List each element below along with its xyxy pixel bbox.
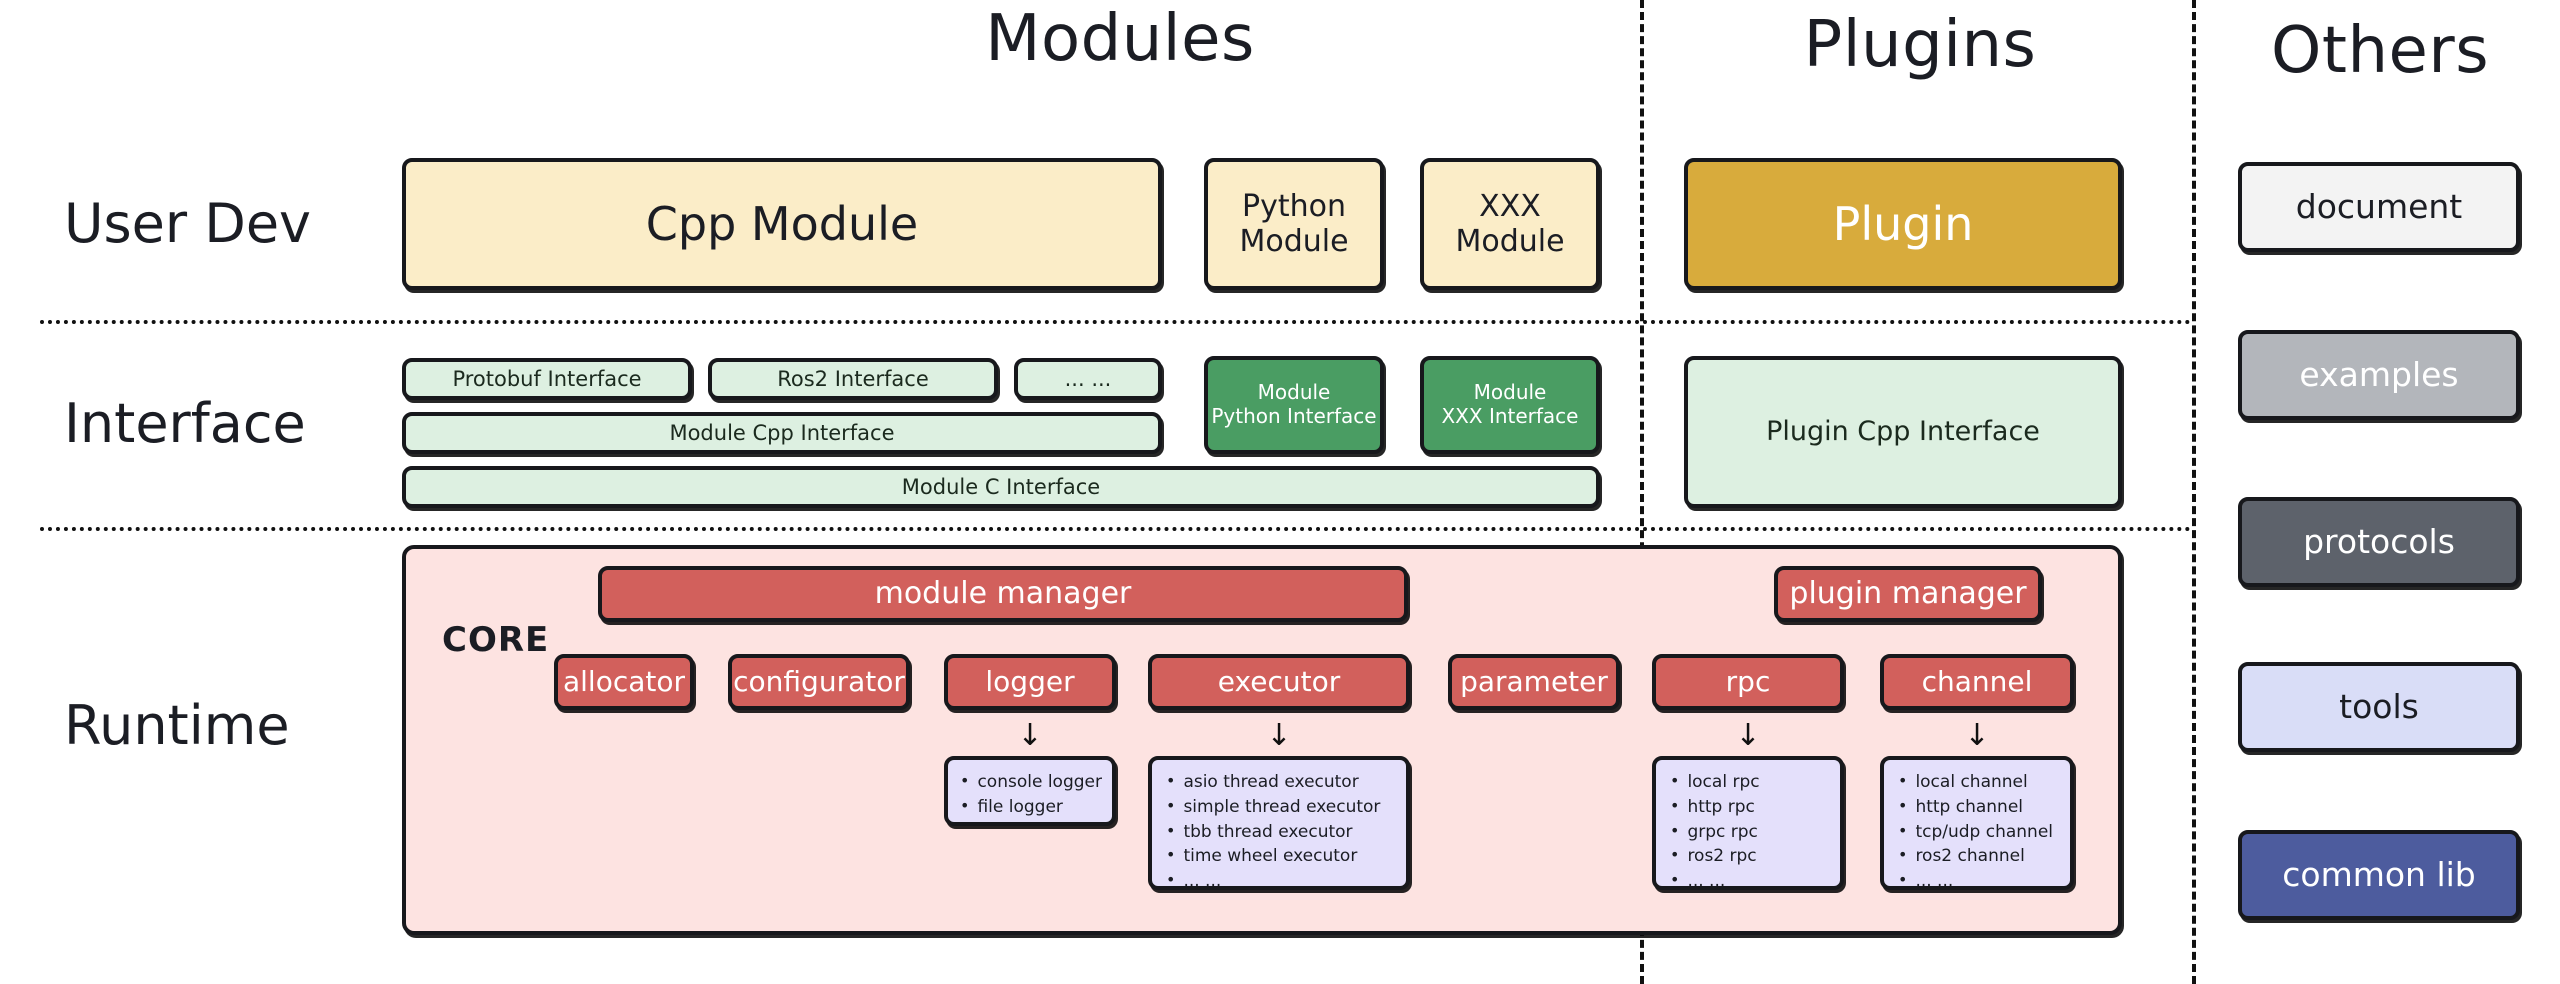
node-ros2-interface[interactable]: Ros2 Interface	[708, 358, 998, 400]
column-header-plugins-label: Plugins	[1804, 8, 2037, 82]
bullet-icon: •	[960, 770, 969, 792]
node-xxx-module-label: XXX Module	[1455, 189, 1564, 260]
bullet-icon: •	[1670, 795, 1679, 817]
detail-item-label: ... ...	[1915, 869, 1953, 894]
detail-list-channel: •local channel•http channel•tcp/udp chan…	[1884, 760, 2070, 902]
node-tools-label: tools	[2339, 688, 2419, 727]
bullet-icon: •	[1166, 770, 1175, 792]
detail-item: •simple thread executor	[1166, 795, 1394, 820]
node-executor-label: executor	[1218, 665, 1340, 698]
bullet-icon: •	[1166, 844, 1175, 866]
detail-item-label: tcp/udp channel	[1915, 820, 2053, 845]
node-protocols[interactable]: protocols	[2238, 497, 2520, 587]
column-header-modules: Modules	[740, 2, 1500, 76]
detail-item-label: local channel	[1915, 770, 2027, 795]
node-module-python-interface[interactable]: Module Python Interface	[1204, 356, 1384, 454]
node-parameter-label: parameter	[1460, 665, 1608, 698]
node-configurator-label: configurator	[733, 665, 905, 698]
detail-item: •http channel	[1898, 795, 2058, 820]
detail-item-label: asio thread executor	[1183, 770, 1358, 795]
detail-item: •local channel	[1898, 770, 2058, 795]
bullet-icon: •	[1898, 770, 1907, 792]
bullet-icon: •	[960, 795, 969, 817]
arrow-rpc-glyph: ↓	[1735, 721, 1760, 751]
detail-box-logger[interactable]: •console logger•file logger	[944, 756, 1116, 826]
detail-box-executor[interactable]: •asio thread executor•simple thread exec…	[1148, 756, 1410, 890]
node-common-lib-label: common lib	[2282, 856, 2476, 895]
node-module-python-interface-label: Module Python Interface	[1211, 381, 1376, 428]
detail-item-label: http channel	[1915, 795, 2023, 820]
arrow-executor-glyph: ↓	[1266, 721, 1291, 751]
detail-item: •asio thread executor	[1166, 770, 1394, 795]
node-rpc-label: rpc	[1726, 665, 1771, 698]
detail-item-label: grpc rpc	[1687, 820, 1757, 845]
node-plugin[interactable]: Plugin	[1684, 158, 2122, 290]
detail-item-label: tbb thread executor	[1183, 820, 1352, 845]
bullet-icon: •	[1898, 844, 1907, 866]
node-python-module[interactable]: Python Module	[1204, 158, 1384, 290]
node-allocator-label: allocator	[563, 665, 685, 698]
bullet-icon: •	[1898, 869, 1907, 891]
arrow-logger-glyph: ↓	[1017, 721, 1042, 751]
detail-item: •ros2 channel	[1898, 844, 2058, 869]
detail-item-label: ... ...	[1687, 869, 1725, 894]
detail-item-label: ros2 rpc	[1687, 844, 1756, 869]
detail-item: •file logger	[960, 795, 1102, 820]
node-python-module-label: Python Module	[1239, 189, 1348, 260]
bullet-icon: •	[1670, 844, 1679, 866]
node-plugin-label: Plugin	[1833, 197, 1974, 251]
node-module-xxx-interface-label: Module XXX Interface	[1441, 381, 1578, 428]
detail-item: •time wheel executor	[1166, 844, 1394, 869]
arrow-rpc-down: ↓	[1718, 714, 1778, 758]
arrow-executor-down: ↓	[1249, 714, 1309, 758]
bullet-icon: •	[1166, 795, 1175, 817]
detail-item-label: console logger	[977, 770, 1102, 795]
bullet-icon: •	[1670, 869, 1679, 891]
node-channel[interactable]: channel	[1880, 654, 2074, 710]
node-channel-label: channel	[1922, 665, 2033, 698]
detail-item: •console logger	[960, 770, 1102, 795]
detail-list-rpc: •local rpc•http rpc•grpc rpc•ros2 rpc•..…	[1656, 760, 1840, 902]
node-plugin-cpp-interface-label: Plugin Cpp Interface	[1766, 416, 2040, 448]
bullet-icon: •	[1898, 795, 1907, 817]
node-protobuf-interface[interactable]: Protobuf Interface	[402, 358, 692, 400]
row-label-runtime-text: Runtime	[64, 694, 290, 757]
arrow-channel-glyph: ↓	[1964, 721, 1989, 751]
detail-item: •... ...	[1898, 869, 2058, 894]
node-configurator[interactable]: configurator	[728, 654, 910, 710]
divider-plugins-others	[2192, 0, 2196, 984]
column-header-others: Others	[2210, 14, 2550, 88]
node-module-cpp-interface[interactable]: Module Cpp Interface	[402, 412, 1162, 454]
core-label-text: CORE	[442, 620, 549, 660]
node-module-c-interface[interactable]: Module C Interface	[402, 466, 1600, 508]
row-label-interface-text: Interface	[64, 392, 306, 455]
node-document[interactable]: document	[2238, 162, 2520, 252]
row-label-interface: Interface	[64, 392, 306, 455]
node-plugin-manager-label: plugin manager	[1789, 576, 2026, 611]
node-executor[interactable]: executor	[1148, 654, 1410, 710]
detail-item: •tcp/udp channel	[1898, 820, 2058, 845]
detail-box-rpc[interactable]: •local rpc•http rpc•grpc rpc•ros2 rpc•..…	[1652, 756, 1844, 890]
arrow-logger-down: ↓	[1000, 714, 1060, 758]
node-plugin-cpp-interface[interactable]: Plugin Cpp Interface	[1684, 356, 2122, 508]
detail-box-channel[interactable]: •local channel•http channel•tcp/udp chan…	[1880, 756, 2074, 890]
node-protobuf-interface-label: Protobuf Interface	[452, 367, 641, 392]
node-module-cpp-interface-label: Module Cpp Interface	[669, 421, 894, 446]
detail-item-label: ros2 channel	[1915, 844, 2024, 869]
node-examples-label: examples	[2299, 356, 2458, 395]
node-document-label: document	[2296, 188, 2463, 227]
detail-item: •ros2 rpc	[1670, 844, 1828, 869]
column-header-modules-label: Modules	[985, 2, 1255, 76]
bullet-icon: •	[1166, 869, 1175, 891]
arrow-channel-down: ↓	[1947, 714, 2007, 758]
node-cpp-module[interactable]: Cpp Module	[402, 158, 1162, 290]
bullet-icon: •	[1670, 820, 1679, 842]
detail-item-label: time wheel executor	[1183, 844, 1357, 869]
core-label: CORE	[442, 620, 549, 660]
detail-item-label: http rpc	[1687, 795, 1754, 820]
node-xxx-module[interactable]: XXX Module	[1420, 158, 1600, 290]
detail-item: •tbb thread executor	[1166, 820, 1394, 845]
detail-list-logger: •console logger•file logger	[946, 760, 1114, 828]
node-more-interface[interactable]: ... ...	[1014, 358, 1162, 400]
detail-item-label: ... ...	[1183, 869, 1221, 894]
divider-interface-runtime	[40, 527, 2192, 531]
node-logger-label: logger	[985, 665, 1074, 698]
node-tools[interactable]: tools	[2238, 662, 2520, 752]
detail-list-executor: •asio thread executor•simple thread exec…	[1152, 760, 1406, 902]
node-module-manager[interactable]: module manager	[598, 566, 1408, 622]
detail-item: •grpc rpc	[1670, 820, 1828, 845]
column-header-others-label: Others	[2271, 14, 2489, 88]
node-rpc[interactable]: rpc	[1652, 654, 1844, 710]
detail-item-label: local rpc	[1687, 770, 1759, 795]
node-allocator[interactable]: allocator	[554, 654, 694, 710]
node-module-manager-label: module manager	[875, 576, 1132, 611]
node-cpp-module-label: Cpp Module	[646, 197, 918, 251]
bullet-icon: •	[1898, 820, 1907, 842]
detail-item: •local rpc	[1670, 770, 1828, 795]
detail-item-label: simple thread executor	[1183, 795, 1380, 820]
row-label-user-dev-text: User Dev	[64, 192, 311, 255]
column-header-plugins: Plugins	[1660, 8, 2180, 82]
row-label-user-dev: User Dev	[64, 192, 311, 255]
node-more-interface-label: ... ...	[1065, 367, 1112, 392]
node-examples[interactable]: examples	[2238, 330, 2520, 420]
detail-item-label: file logger	[977, 795, 1062, 820]
node-protocols-label: protocols	[2303, 523, 2455, 562]
row-label-runtime: Runtime	[64, 694, 290, 757]
detail-item: •... ...	[1670, 869, 1828, 894]
node-ros2-interface-label: Ros2 Interface	[777, 367, 929, 392]
node-plugin-manager[interactable]: plugin manager	[1774, 566, 2042, 622]
node-common-lib[interactable]: common lib	[2238, 830, 2520, 920]
node-module-xxx-interface[interactable]: Module XXX Interface	[1420, 356, 1600, 454]
node-logger[interactable]: logger	[944, 654, 1116, 710]
node-module-c-interface-label: Module C Interface	[902, 475, 1100, 500]
divider-userdev-interface	[40, 320, 2192, 324]
detail-item: •... ...	[1166, 869, 1394, 894]
detail-item: •http rpc	[1670, 795, 1828, 820]
bullet-icon: •	[1166, 820, 1175, 842]
node-parameter[interactable]: parameter	[1448, 654, 1620, 710]
bullet-icon: •	[1670, 770, 1679, 792]
